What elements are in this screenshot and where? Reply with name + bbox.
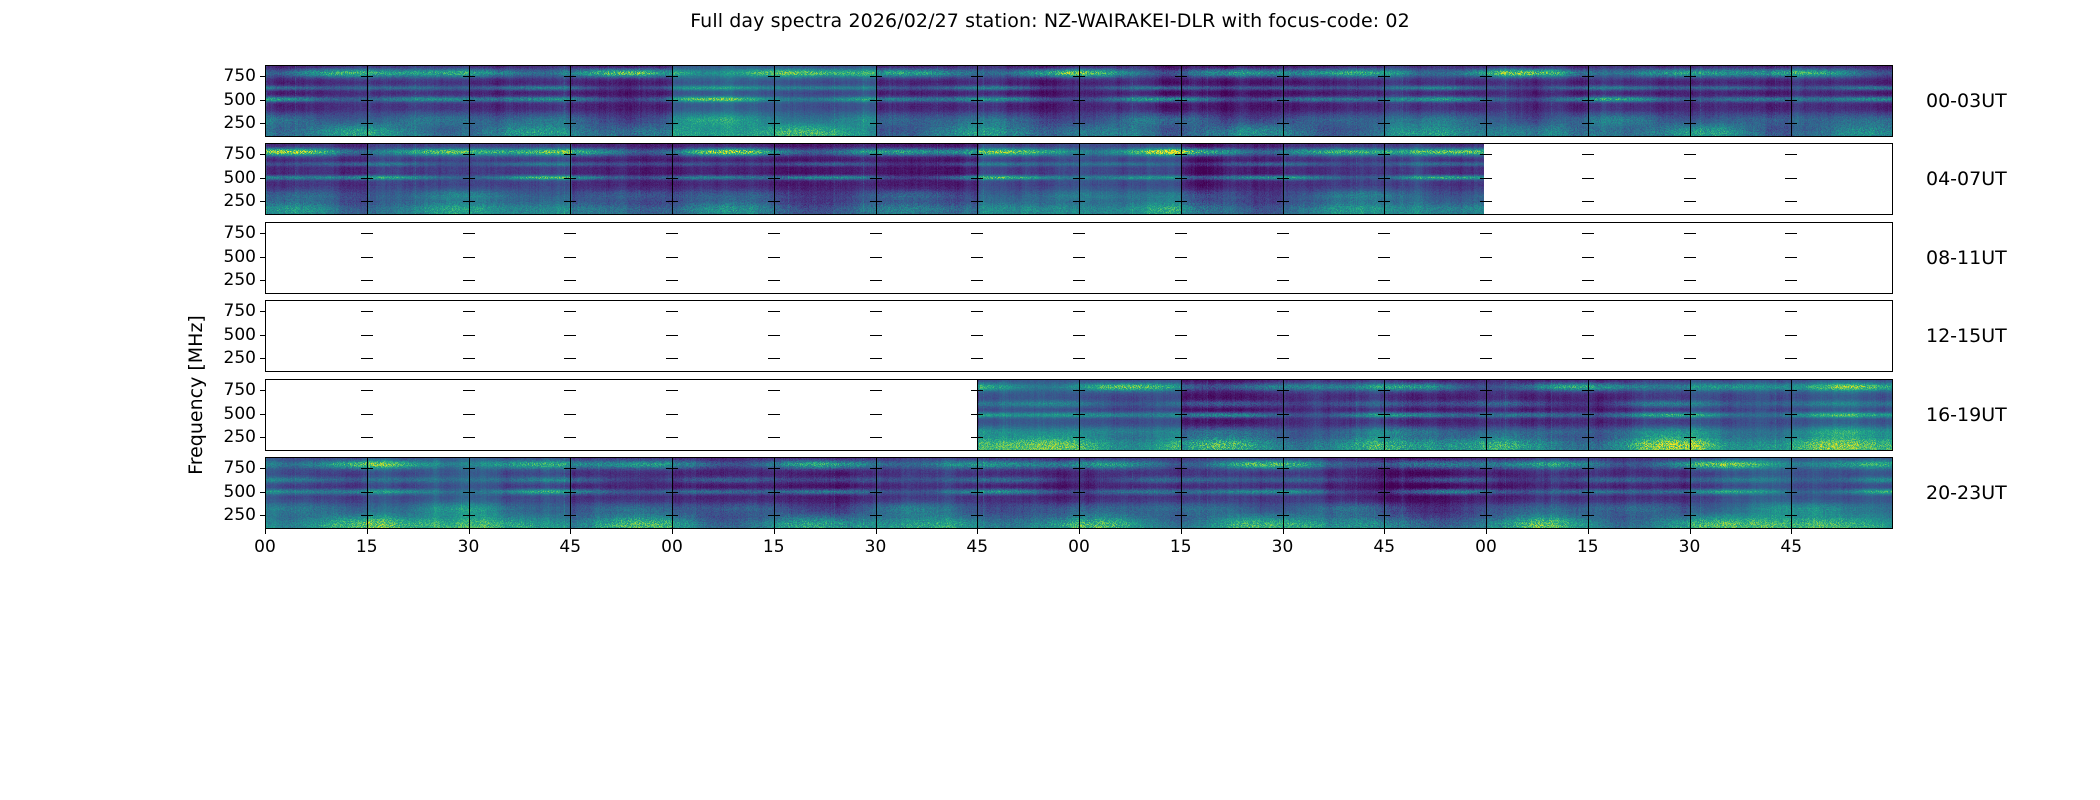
y-tick-mark bbox=[260, 154, 265, 155]
inner-tick-stub bbox=[1079, 335, 1085, 336]
inner-tick-stub bbox=[1283, 280, 1289, 281]
inner-tick-stub bbox=[570, 515, 576, 516]
inner-tick-stub bbox=[367, 414, 373, 415]
inner-tick-stub bbox=[570, 123, 576, 124]
inner-tick-stub bbox=[876, 154, 882, 155]
inner-tick-stub bbox=[1486, 468, 1492, 469]
inner-tick-stub bbox=[1079, 76, 1085, 77]
inner-tick-stub bbox=[1181, 492, 1187, 493]
inner-tick-stub bbox=[1791, 414, 1797, 415]
inner-tick-stub bbox=[876, 468, 882, 469]
inner-tick-stub bbox=[367, 311, 373, 312]
x-tick-mark bbox=[570, 529, 571, 534]
inner-tick-stub bbox=[469, 358, 475, 359]
inner-tick-stub bbox=[774, 515, 780, 516]
inner-tick-stub bbox=[876, 201, 882, 202]
inner-tick-stub bbox=[1486, 515, 1492, 516]
inner-tick-stub bbox=[1588, 76, 1594, 77]
y-tick-label: 500 bbox=[224, 325, 256, 345]
inner-tick-stub bbox=[977, 358, 983, 359]
inner-tick-stub bbox=[1791, 358, 1797, 359]
inner-tick-stub bbox=[1690, 390, 1696, 391]
inner-tick-stub bbox=[977, 280, 983, 281]
x-tick-label: 00 bbox=[254, 537, 276, 557]
inner-tick-stub bbox=[1486, 437, 1492, 438]
inner-tick-stub bbox=[1079, 311, 1085, 312]
inner-tick-stub bbox=[570, 233, 576, 234]
inner-tick-stub bbox=[977, 414, 983, 415]
inner-tick-stub bbox=[1690, 492, 1696, 493]
inner-tick-stub bbox=[1079, 233, 1085, 234]
y-tick-mark bbox=[260, 100, 265, 101]
inner-tick-stub bbox=[1588, 414, 1594, 415]
inner-tick-stub bbox=[469, 178, 475, 179]
inner-tick-stub bbox=[1791, 437, 1797, 438]
inner-tick-stub bbox=[1079, 437, 1085, 438]
inner-tick-stub bbox=[570, 257, 576, 258]
inner-tick-stub bbox=[367, 154, 373, 155]
x-tick-mark bbox=[1588, 529, 1589, 534]
inner-tick-stub bbox=[1079, 515, 1085, 516]
inner-tick-stub bbox=[1181, 468, 1187, 469]
inner-tick-stub bbox=[1486, 311, 1492, 312]
y-tick-label: 750 bbox=[224, 380, 256, 400]
spectrogram-row-20-23ut[interactable]: 2505007500015304500153045001530450015304… bbox=[265, 457, 1893, 529]
inner-tick-stub bbox=[672, 358, 678, 359]
inner-tick-stub bbox=[1486, 201, 1492, 202]
x-tick-label: 30 bbox=[1272, 537, 1294, 557]
inner-tick-stub bbox=[1791, 154, 1797, 155]
inner-tick-stub bbox=[570, 437, 576, 438]
inner-tick-stub bbox=[367, 257, 373, 258]
inner-tick-stub bbox=[570, 414, 576, 415]
spectrogram-row-08-11ut[interactable]: 25050075008-11UT bbox=[265, 222, 1893, 294]
row-label-08-11ut: 08-11UT bbox=[1926, 247, 2007, 269]
inner-tick-stub bbox=[876, 414, 882, 415]
inner-tick-stub bbox=[1588, 201, 1594, 202]
inner-tick-stub bbox=[1791, 201, 1797, 202]
inner-tick-stub bbox=[1384, 390, 1390, 391]
inner-tick-stub bbox=[1690, 76, 1696, 77]
y-tick-mark bbox=[260, 311, 265, 312]
inner-tick-stub bbox=[1690, 178, 1696, 179]
row-label-04-07ut: 04-07UT bbox=[1926, 168, 2007, 190]
inner-tick-stub bbox=[876, 123, 882, 124]
inner-tick-stub bbox=[876, 335, 882, 336]
inner-tick-stub bbox=[977, 123, 983, 124]
x-tick-mark bbox=[469, 529, 470, 534]
inner-tick-stub bbox=[1384, 492, 1390, 493]
inner-tick-stub bbox=[1181, 178, 1187, 179]
inner-tick-stub bbox=[876, 515, 882, 516]
inner-tick-stub bbox=[977, 515, 983, 516]
x-tick-mark bbox=[774, 529, 775, 534]
inner-tick-stub bbox=[1690, 154, 1696, 155]
inner-tick-stub bbox=[774, 123, 780, 124]
inner-tick-stub bbox=[672, 100, 678, 101]
inner-tick-stub bbox=[469, 492, 475, 493]
y-tick-label: 250 bbox=[224, 191, 256, 211]
inner-tick-stub bbox=[1486, 358, 1492, 359]
inner-tick-stub bbox=[1791, 100, 1797, 101]
inner-tick-stub bbox=[367, 358, 373, 359]
inner-tick-stub bbox=[1079, 492, 1085, 493]
inner-tick-stub bbox=[469, 437, 475, 438]
inner-tick-stub bbox=[1384, 358, 1390, 359]
inner-tick-stub bbox=[672, 515, 678, 516]
y-tick-label: 250 bbox=[224, 270, 256, 290]
y-tick-mark bbox=[260, 492, 265, 493]
inner-tick-stub bbox=[876, 76, 882, 77]
inner-tick-stub bbox=[1283, 515, 1289, 516]
inner-tick-stub bbox=[1690, 414, 1696, 415]
inner-tick-stub bbox=[1791, 515, 1797, 516]
inner-tick-stub bbox=[1079, 201, 1085, 202]
inner-tick-stub bbox=[774, 233, 780, 234]
inner-tick-stub bbox=[1791, 76, 1797, 77]
inner-tick-stub bbox=[469, 335, 475, 336]
inner-tick-stub bbox=[1791, 492, 1797, 493]
inner-tick-stub bbox=[1283, 178, 1289, 179]
inner-tick-stub bbox=[672, 280, 678, 281]
inner-tick-stub bbox=[1283, 257, 1289, 258]
inner-tick-stub bbox=[1283, 468, 1289, 469]
x-tick-label: 15 bbox=[1577, 537, 1599, 557]
inner-tick-stub bbox=[1283, 123, 1289, 124]
y-tick-label: 500 bbox=[224, 90, 256, 110]
y-tick-mark bbox=[260, 390, 265, 391]
inner-tick-stub bbox=[469, 257, 475, 258]
inner-tick-stub bbox=[1791, 335, 1797, 336]
inner-tick-stub bbox=[977, 76, 983, 77]
y-tick-label: 250 bbox=[224, 427, 256, 447]
inner-tick-stub bbox=[469, 468, 475, 469]
inner-tick-stub bbox=[469, 414, 475, 415]
inner-tick-stub bbox=[469, 100, 475, 101]
inner-tick-stub bbox=[1384, 311, 1390, 312]
inner-tick-stub bbox=[1588, 492, 1594, 493]
x-tick-label: 15 bbox=[763, 537, 785, 557]
x-tick-mark bbox=[1690, 529, 1691, 534]
row-label-20-23ut: 20-23UT bbox=[1926, 482, 2007, 504]
inner-tick-stub bbox=[1181, 515, 1187, 516]
inner-tick-stub bbox=[1791, 233, 1797, 234]
inner-tick-stub bbox=[774, 492, 780, 493]
inner-tick-stub bbox=[977, 492, 983, 493]
x-tick-label: 30 bbox=[458, 537, 480, 557]
inner-tick-stub bbox=[1384, 154, 1390, 155]
inner-tick-stub bbox=[876, 358, 882, 359]
inner-tick-stub bbox=[774, 414, 780, 415]
inner-tick-stub bbox=[469, 515, 475, 516]
spectrogram-row-16-19ut[interactable]: 25050075016-19UT bbox=[265, 379, 1893, 451]
inner-tick-stub bbox=[774, 154, 780, 155]
inner-tick-stub bbox=[672, 468, 678, 469]
y-tick-mark bbox=[260, 414, 265, 415]
inner-tick-stub bbox=[774, 437, 780, 438]
inner-tick-stub bbox=[1283, 154, 1289, 155]
inner-tick-stub bbox=[1791, 390, 1797, 391]
inner-tick-stub bbox=[1588, 468, 1594, 469]
inner-tick-stub bbox=[1384, 76, 1390, 77]
inner-tick-stub bbox=[977, 437, 983, 438]
inner-tick-stub bbox=[367, 390, 373, 391]
inner-tick-stub bbox=[1791, 468, 1797, 469]
inner-tick-stub bbox=[774, 76, 780, 77]
inner-tick-stub bbox=[672, 437, 678, 438]
y-tick-mark bbox=[260, 178, 265, 179]
inner-tick-stub bbox=[367, 201, 373, 202]
inner-tick-stub bbox=[876, 100, 882, 101]
inner-tick-stub bbox=[367, 492, 373, 493]
inner-tick-stub bbox=[774, 280, 780, 281]
inner-tick-stub bbox=[1384, 414, 1390, 415]
inner-tick-stub bbox=[1690, 280, 1696, 281]
inner-tick-stub bbox=[1283, 311, 1289, 312]
y-axis-label: Frequency [MHz] bbox=[185, 315, 207, 475]
inner-tick-stub bbox=[1690, 311, 1696, 312]
x-tick-mark bbox=[1079, 529, 1080, 534]
inner-tick-stub bbox=[774, 201, 780, 202]
inner-tick-stub bbox=[672, 257, 678, 258]
inner-tick-stub bbox=[1384, 257, 1390, 258]
inner-tick-stub bbox=[1079, 358, 1085, 359]
inner-tick-stub bbox=[570, 311, 576, 312]
inner-tick-stub bbox=[1588, 358, 1594, 359]
inner-tick-stub bbox=[774, 257, 780, 258]
y-tick-label: 750 bbox=[224, 66, 256, 86]
spectrogram-row-04-07ut[interactable]: 25050075004-07UT bbox=[265, 143, 1893, 215]
x-tick-label: 30 bbox=[1679, 537, 1701, 557]
inner-tick-stub bbox=[774, 390, 780, 391]
x-tick-mark bbox=[1791, 529, 1792, 534]
inner-tick-stub bbox=[469, 311, 475, 312]
y-tick-mark bbox=[260, 358, 265, 359]
y-tick-label: 500 bbox=[224, 168, 256, 188]
inner-tick-stub bbox=[1079, 178, 1085, 179]
inner-tick-stub bbox=[1588, 233, 1594, 234]
y-tick-label: 500 bbox=[224, 404, 256, 424]
inner-tick-stub bbox=[1588, 154, 1594, 155]
inner-tick-stub bbox=[1486, 335, 1492, 336]
inner-tick-stub bbox=[1384, 100, 1390, 101]
inner-tick-stub bbox=[1588, 335, 1594, 336]
inner-tick-stub bbox=[1791, 123, 1797, 124]
inner-tick-stub bbox=[1791, 280, 1797, 281]
inner-tick-stub bbox=[977, 311, 983, 312]
inner-tick-stub bbox=[672, 335, 678, 336]
y-tick-label: 750 bbox=[224, 458, 256, 478]
inner-tick-stub bbox=[774, 358, 780, 359]
inner-tick-stub bbox=[1384, 335, 1390, 336]
inner-tick-stub bbox=[1181, 311, 1187, 312]
row-label-16-19ut: 16-19UT bbox=[1926, 404, 2007, 426]
inner-tick-stub bbox=[774, 178, 780, 179]
y-tick-label: 500 bbox=[224, 482, 256, 502]
inner-tick-stub bbox=[876, 257, 882, 258]
inner-tick-stub bbox=[1690, 100, 1696, 101]
inner-tick-stub bbox=[367, 280, 373, 281]
inner-tick-stub bbox=[1690, 201, 1696, 202]
row-label-12-15ut: 12-15UT bbox=[1926, 325, 2007, 347]
x-tick-mark bbox=[1181, 529, 1182, 534]
x-tick-mark bbox=[1384, 529, 1385, 534]
y-tick-label: 750 bbox=[224, 223, 256, 243]
inner-tick-stub bbox=[1486, 123, 1492, 124]
inner-tick-stub bbox=[367, 468, 373, 469]
inner-tick-stub bbox=[1079, 154, 1085, 155]
x-tick-label: 30 bbox=[865, 537, 887, 557]
inner-tick-stub bbox=[1283, 414, 1289, 415]
inner-tick-stub bbox=[672, 311, 678, 312]
y-tick-mark bbox=[260, 257, 265, 258]
inner-tick-stub bbox=[1588, 515, 1594, 516]
y-tick-label: 250 bbox=[224, 505, 256, 525]
x-tick-label: 00 bbox=[1475, 537, 1497, 557]
inner-tick-stub bbox=[672, 201, 678, 202]
inner-tick-stub bbox=[1079, 390, 1085, 391]
y-tick-mark bbox=[260, 335, 265, 336]
inner-tick-stub bbox=[1181, 335, 1187, 336]
inner-tick-stub bbox=[570, 335, 576, 336]
inner-tick-stub bbox=[1588, 390, 1594, 391]
inner-tick-stub bbox=[977, 468, 983, 469]
inner-tick-stub bbox=[876, 492, 882, 493]
inner-tick-stub bbox=[1181, 233, 1187, 234]
inner-tick-stub bbox=[570, 201, 576, 202]
inner-tick-stub bbox=[1384, 515, 1390, 516]
inner-tick-stub bbox=[1791, 311, 1797, 312]
inner-tick-stub bbox=[774, 468, 780, 469]
inner-tick-stub bbox=[1283, 390, 1289, 391]
inner-tick-stub bbox=[469, 280, 475, 281]
y-tick-mark bbox=[260, 233, 265, 234]
inner-tick-stub bbox=[977, 201, 983, 202]
inner-tick-stub bbox=[1588, 280, 1594, 281]
inner-tick-stub bbox=[1384, 178, 1390, 179]
inner-tick-stub bbox=[1283, 233, 1289, 234]
x-tick-mark bbox=[876, 529, 877, 534]
inner-tick-stub bbox=[1181, 154, 1187, 155]
inner-tick-stub bbox=[1486, 280, 1492, 281]
x-tick-label: 15 bbox=[356, 537, 378, 557]
inner-tick-stub bbox=[469, 154, 475, 155]
inner-tick-stub bbox=[1486, 233, 1492, 234]
inner-tick-stub bbox=[876, 233, 882, 234]
inner-tick-stub bbox=[1588, 311, 1594, 312]
inner-tick-stub bbox=[1384, 233, 1390, 234]
inner-tick-stub bbox=[570, 492, 576, 493]
inner-tick-stub bbox=[367, 437, 373, 438]
x-tick-label: 45 bbox=[559, 537, 581, 557]
y-tick-label: 500 bbox=[224, 247, 256, 267]
inner-tick-stub bbox=[570, 178, 576, 179]
y-tick-label: 250 bbox=[224, 113, 256, 133]
inner-tick-stub bbox=[1791, 178, 1797, 179]
inner-tick-stub bbox=[774, 335, 780, 336]
inner-tick-stub bbox=[672, 123, 678, 124]
inner-tick-stub bbox=[1283, 335, 1289, 336]
y-tick-mark bbox=[260, 280, 265, 281]
inner-tick-stub bbox=[1690, 123, 1696, 124]
inner-tick-stub bbox=[367, 233, 373, 234]
inner-tick-stub bbox=[672, 390, 678, 391]
inner-tick-stub bbox=[977, 100, 983, 101]
inner-tick-stub bbox=[1079, 257, 1085, 258]
inner-tick-stub bbox=[876, 390, 882, 391]
inner-tick-stub bbox=[469, 76, 475, 77]
inner-tick-stub bbox=[367, 76, 373, 77]
inner-tick-stub bbox=[1588, 123, 1594, 124]
inner-tick-stub bbox=[1384, 437, 1390, 438]
inner-tick-stub bbox=[1690, 437, 1696, 438]
inner-tick-stub bbox=[1283, 201, 1289, 202]
y-tick-label: 750 bbox=[224, 144, 256, 164]
inner-tick-stub bbox=[672, 414, 678, 415]
row-label-00-03ut: 00-03UT bbox=[1926, 90, 2007, 112]
inner-tick-stub bbox=[1181, 257, 1187, 258]
inner-tick-stub bbox=[672, 492, 678, 493]
inner-tick-stub bbox=[570, 390, 576, 391]
inner-tick-stub bbox=[1486, 414, 1492, 415]
x-tick-label: 15 bbox=[1170, 537, 1192, 557]
spectrogram-row-00-03ut[interactable]: 25050075000-03UT bbox=[265, 65, 1893, 137]
x-tick-mark bbox=[672, 529, 673, 534]
inner-tick-stub bbox=[1791, 257, 1797, 258]
inner-tick-stub bbox=[1384, 468, 1390, 469]
inner-tick-stub bbox=[570, 280, 576, 281]
inner-tick-stub bbox=[1181, 437, 1187, 438]
inner-tick-stub bbox=[1079, 280, 1085, 281]
inner-tick-stub bbox=[1588, 437, 1594, 438]
inner-tick-stub bbox=[1690, 515, 1696, 516]
inner-tick-stub bbox=[876, 437, 882, 438]
inner-tick-stub bbox=[1690, 468, 1696, 469]
inner-tick-stub bbox=[672, 154, 678, 155]
inner-tick-stub bbox=[1283, 492, 1289, 493]
x-tick-label: 45 bbox=[966, 537, 988, 557]
inner-tick-stub bbox=[570, 76, 576, 77]
inner-tick-stub bbox=[977, 154, 983, 155]
inner-tick-stub bbox=[367, 335, 373, 336]
inner-tick-stub bbox=[570, 468, 576, 469]
inner-tick-stub bbox=[774, 100, 780, 101]
inner-tick-stub bbox=[1181, 100, 1187, 101]
spectrogram-row-12-15ut[interactable]: 25050075012-15UT bbox=[265, 300, 1893, 372]
inner-tick-stub bbox=[1079, 468, 1085, 469]
inner-tick-stub bbox=[367, 123, 373, 124]
x-tick-mark bbox=[1486, 529, 1487, 534]
y-tick-mark bbox=[260, 123, 265, 124]
inner-tick-stub bbox=[876, 311, 882, 312]
inner-tick-stub bbox=[1384, 123, 1390, 124]
inner-tick-stub bbox=[1181, 76, 1187, 77]
inner-tick-stub bbox=[1079, 100, 1085, 101]
inner-tick-stub bbox=[469, 390, 475, 391]
inner-tick-stub bbox=[977, 257, 983, 258]
inner-tick-stub bbox=[1486, 100, 1492, 101]
inner-tick-stub bbox=[1283, 100, 1289, 101]
inner-tick-stub bbox=[1283, 358, 1289, 359]
inner-tick-stub bbox=[1486, 257, 1492, 258]
inner-tick-stub bbox=[1486, 492, 1492, 493]
inner-tick-stub bbox=[367, 178, 373, 179]
x-tick-label: 00 bbox=[661, 537, 683, 557]
y-tick-mark bbox=[260, 468, 265, 469]
inner-tick-stub bbox=[774, 311, 780, 312]
inner-tick-stub bbox=[469, 123, 475, 124]
inner-tick-stub bbox=[1486, 178, 1492, 179]
